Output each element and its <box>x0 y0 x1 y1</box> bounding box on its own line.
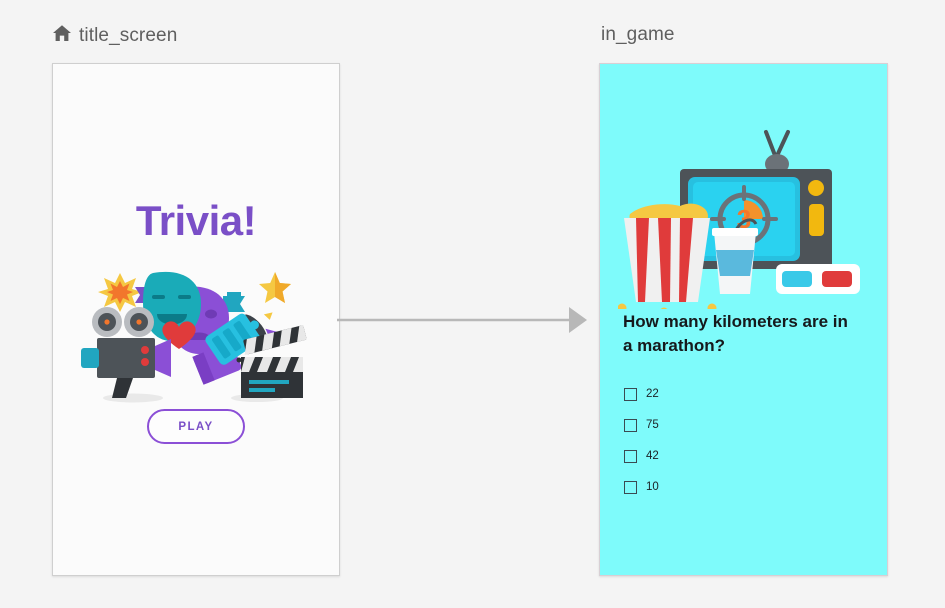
answer-label: 42 <box>646 450 659 462</box>
movie-night-illustration: 3 <box>618 124 870 309</box>
answer-option-3[interactable]: 10 <box>624 479 854 495</box>
checkbox-icon[interactable] <box>624 450 637 463</box>
home-icon <box>52 24 72 48</box>
screen-label-in-game[interactable]: in_game <box>601 24 675 46</box>
checkbox-icon[interactable] <box>624 419 637 432</box>
transition-arrow[interactable] <box>337 305 589 335</box>
screen-label-text: title_screen <box>79 25 177 47</box>
answer-option-1[interactable]: 75 <box>624 417 854 433</box>
screen-label-title-screen[interactable]: title_screen <box>52 24 177 48</box>
frame-title-screen[interactable]: Trivia! <box>52 63 340 576</box>
play-button[interactable]: PLAY <box>147 409 245 444</box>
frame-in-game[interactable]: 3 <box>599 63 888 576</box>
answer-option-0[interactable]: 22 <box>624 386 854 402</box>
screen-label-text: in_game <box>601 24 675 46</box>
answer-option-2[interactable]: 42 <box>624 448 854 464</box>
entertainment-icons-illustration <box>75 256 319 406</box>
question-text: How many kilometers are in a marathon? <box>623 310 858 358</box>
game-title: Trivia! <box>53 197 339 245</box>
checkbox-icon[interactable] <box>624 481 637 494</box>
answer-label: 10 <box>646 481 659 493</box>
answer-label: 75 <box>646 419 659 431</box>
answer-label: 22 <box>646 388 659 400</box>
answer-list: 22 75 42 10 <box>624 386 854 510</box>
checkbox-icon[interactable] <box>624 388 637 401</box>
prototype-canvas: title_screen in_game Trivia! <box>0 0 945 608</box>
